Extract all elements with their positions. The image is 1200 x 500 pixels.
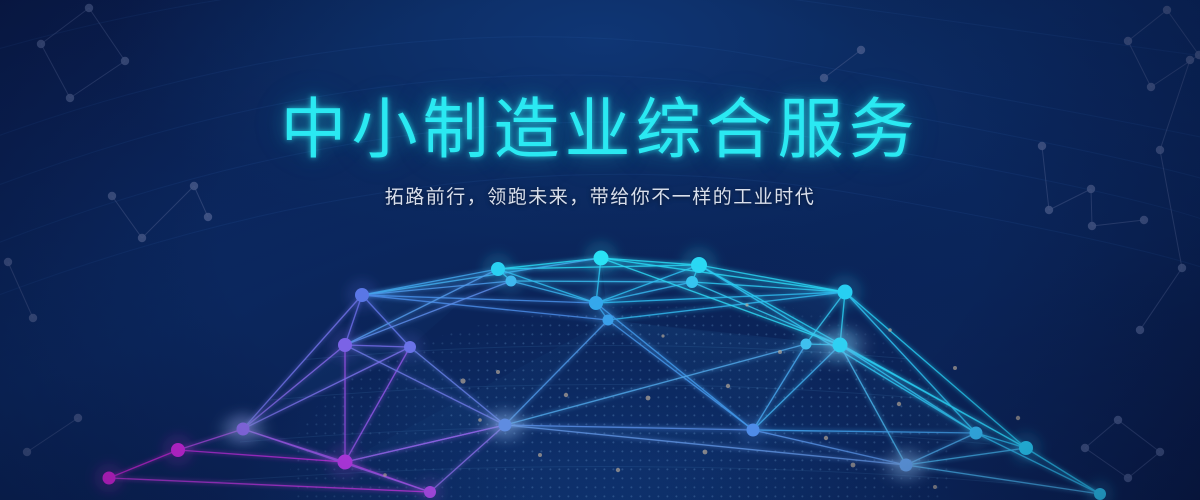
hero-banner: 中小制造业综合服务 拓路前行，领跑未来，带给你不一样的工业时代: [0, 0, 1200, 500]
page-title: 中小制造业综合服务: [0, 96, 1200, 162]
background-vignette: [0, 0, 1200, 500]
page-subtitle: 拓路前行，领跑未来，带给你不一样的工业时代: [0, 188, 1200, 207]
hero-copy: 中小制造业综合服务 拓路前行，领跑未来，带给你不一样的工业时代: [0, 96, 1200, 207]
